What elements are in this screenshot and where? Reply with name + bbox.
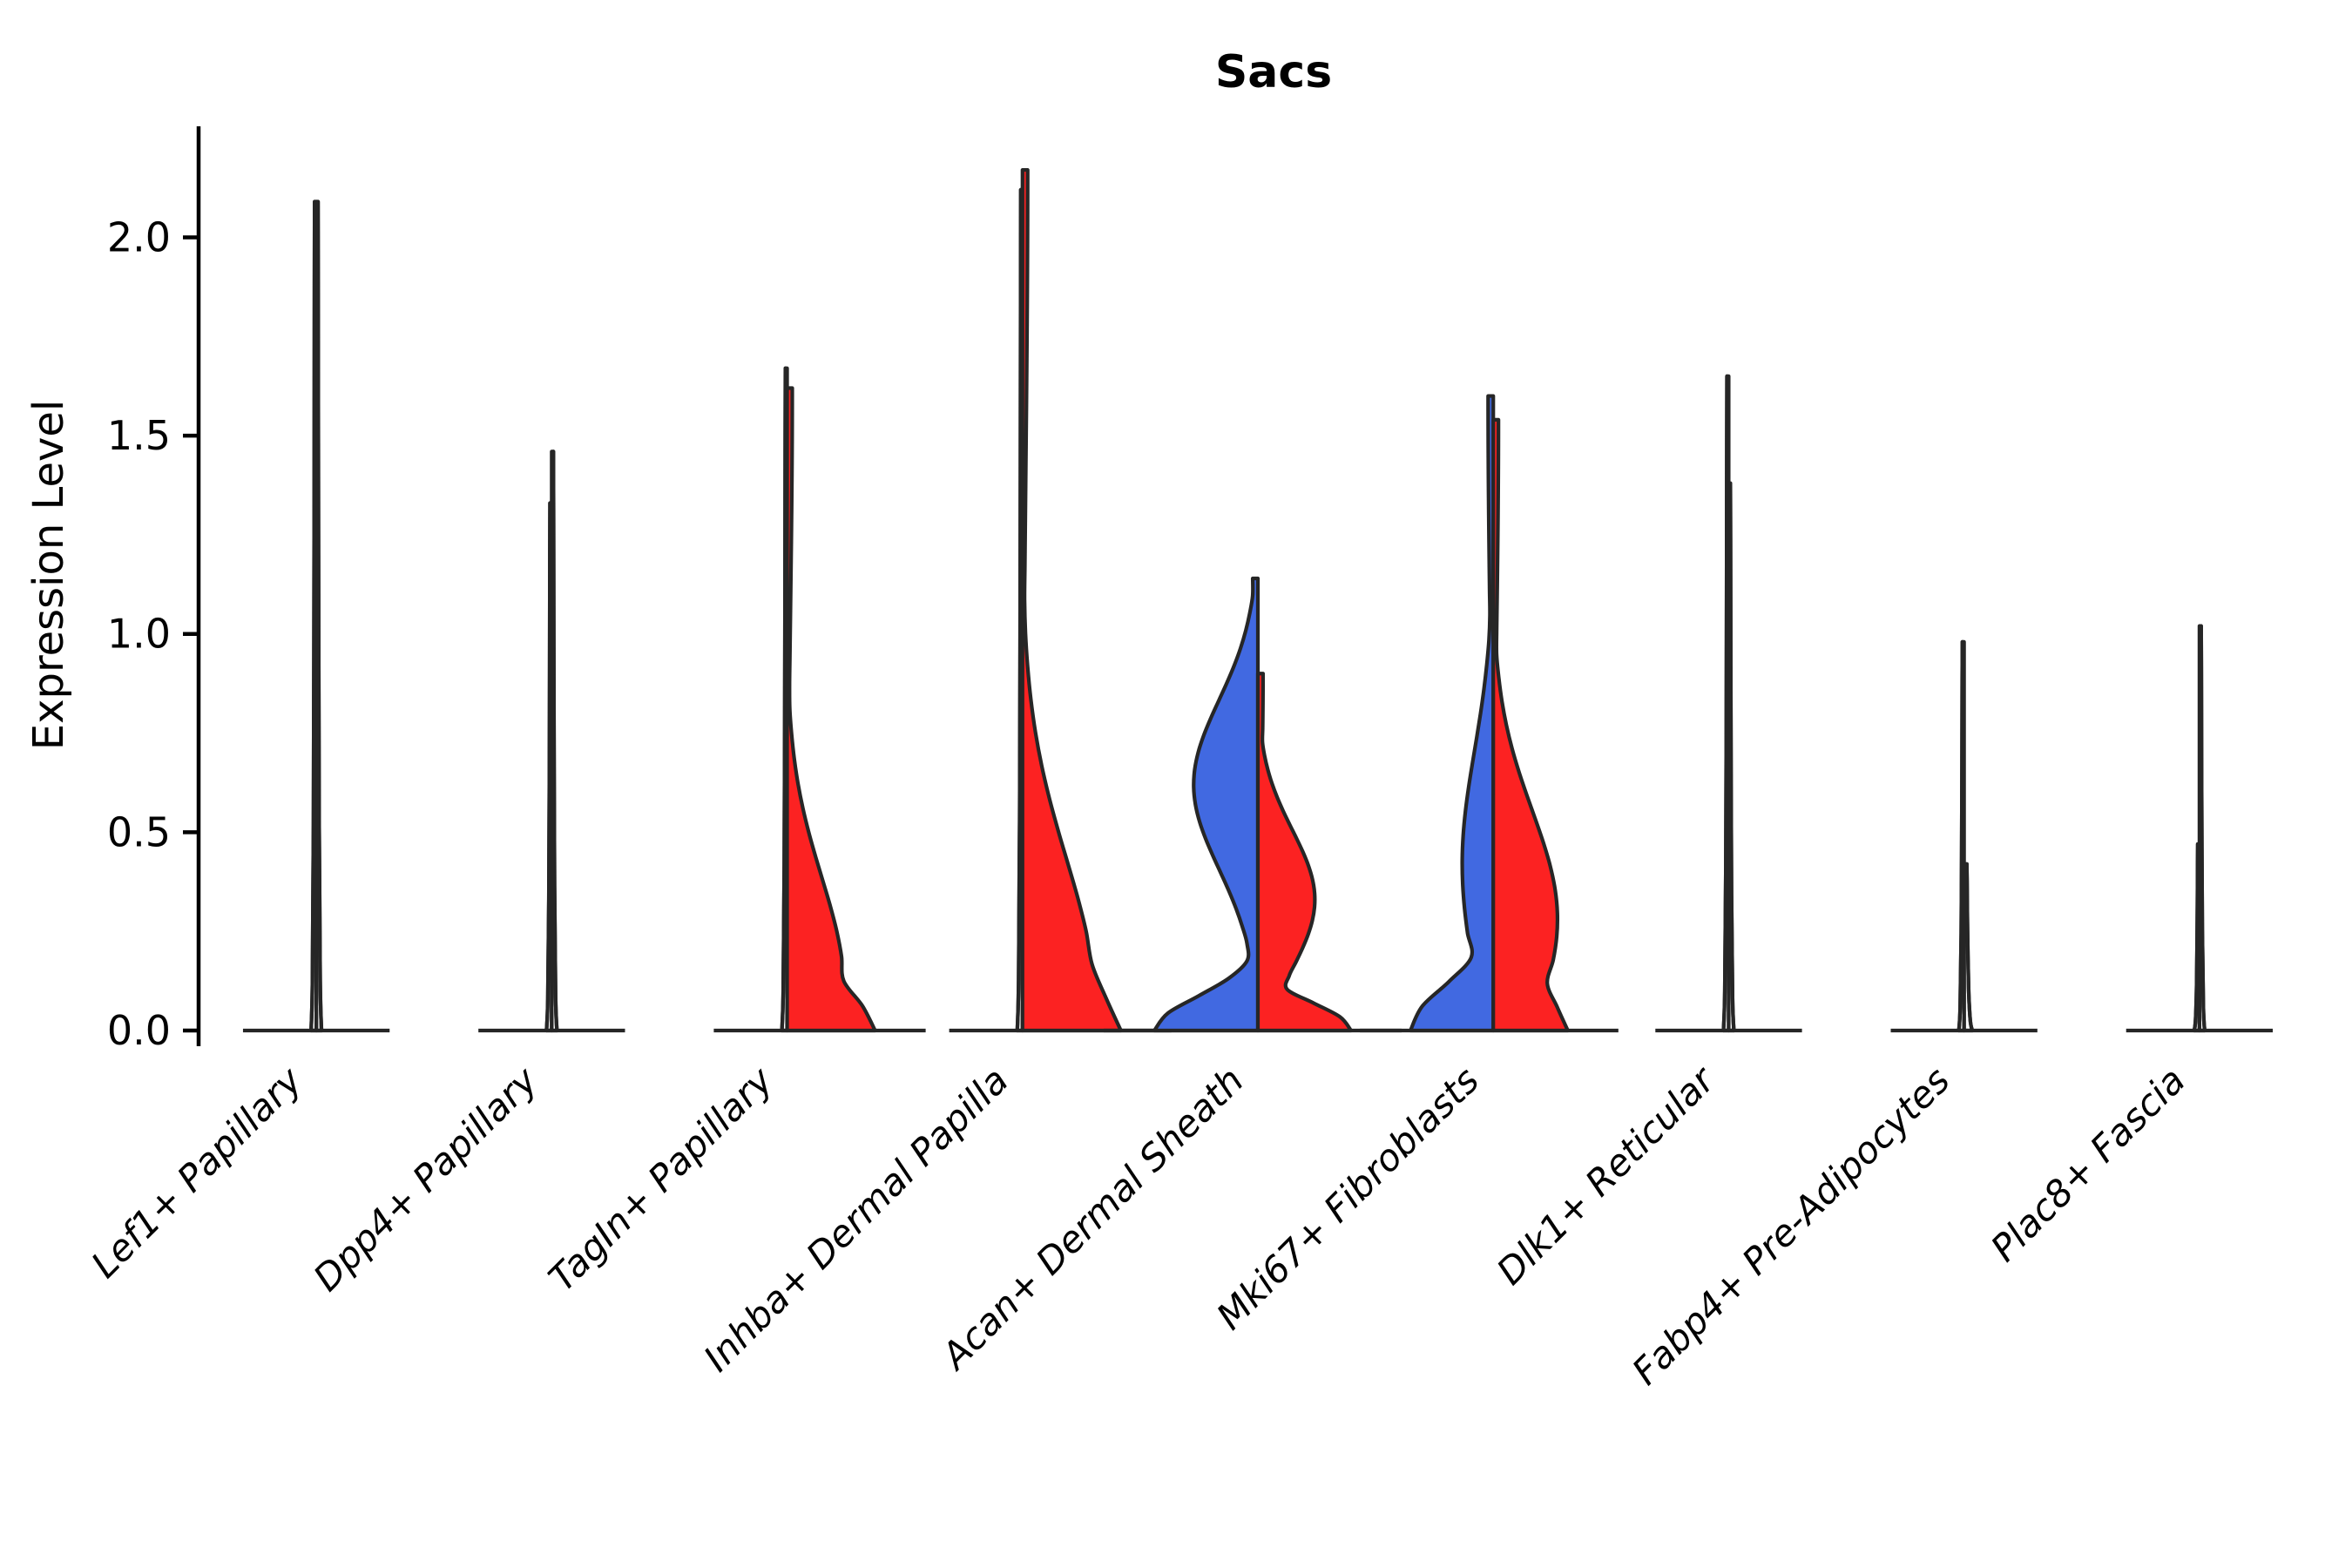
y-axis-tick-label: 0.5 xyxy=(107,808,171,855)
y-axis-tick-label: 2.0 xyxy=(107,213,171,260)
chart-title: Sacs xyxy=(1215,46,1332,98)
y-axis-tick-label: 1.0 xyxy=(107,611,171,658)
plot-canvas: Sacs Expression Level 0.00.51.01.52.0 Le… xyxy=(0,0,2352,1568)
violin-plot-figure: Sacs Expression Level 0.00.51.01.52.0 Le… xyxy=(0,0,2352,1568)
y-axis-tick-label: 0.0 xyxy=(107,1007,171,1054)
y-axis-label: Expression Level xyxy=(24,400,73,751)
y-axis-tick-label: 1.5 xyxy=(107,412,171,459)
figure-background xyxy=(0,0,2352,1568)
